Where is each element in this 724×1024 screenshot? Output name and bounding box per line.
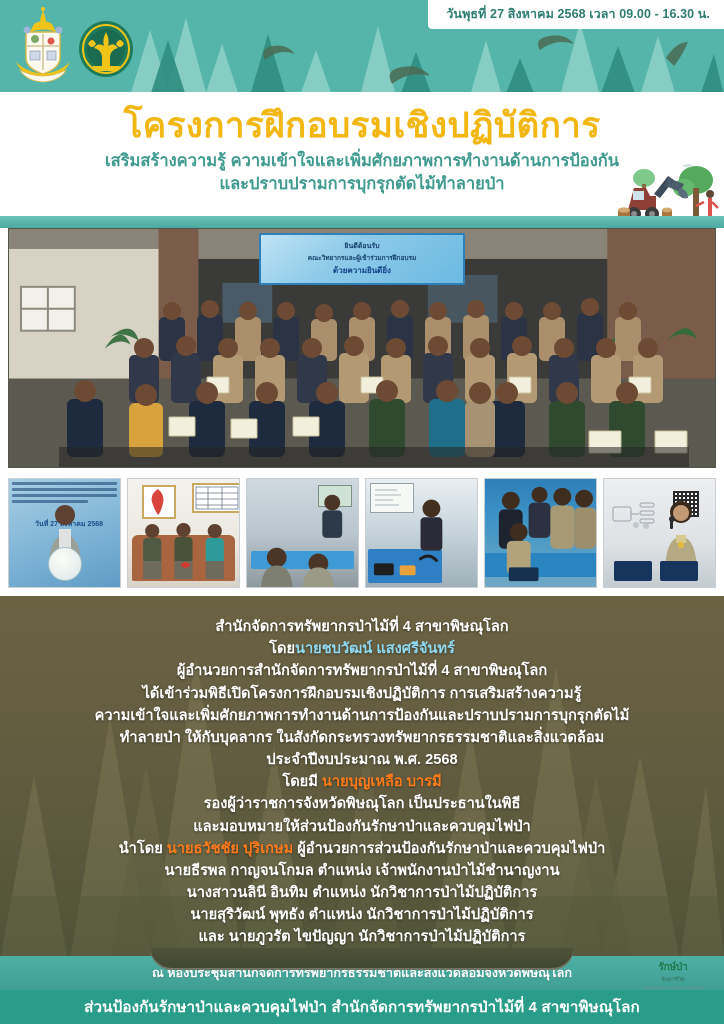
thumb-officials-seated-sofa[interactable]	[127, 478, 240, 588]
thumb-workshop-room-presentation[interactable]	[246, 478, 359, 588]
body-line-13: นายสุริวัฒน์ พุทธัง ตำแหน่ง นักวิชาการป่…	[26, 904, 698, 926]
body-line-9: และมอบหมายให้ส่วนป้องกันรักษาป่าและควบคุ…	[26, 816, 698, 838]
hero-banner-line3: ด้วยความยินดียิ่ง	[333, 264, 391, 277]
title-band: โครงการฝึกอบรมเชิงปฏิบัติการ เสริมสร้างค…	[0, 92, 724, 226]
body-line-2: ผู้อำนวยการสำนักจัดการทรัพยากรป่าไม้ที่ …	[26, 660, 698, 682]
body-line-3: ได้เข้าร่วมพิธีเปิดโครงการฝึกอบรมเชิงปฏิ…	[26, 683, 698, 705]
hero-crowd-figures	[9, 291, 716, 467]
hero-welcome-banner: ยินดีต้อนรับ คณะวิทยากรและผู้เข้าร่วมการ…	[259, 233, 465, 285]
thumbnail-strip: วันที่ 27 สิงหาคม 2568	[8, 478, 716, 588]
body-line-6: ประจำปีงบประมาณ พ.ศ. 2568	[26, 749, 698, 771]
ministry-seal-emblem-icon	[78, 20, 134, 78]
royal-garuda-emblem-icon	[14, 6, 72, 86]
thumb5-officer-figures	[485, 479, 596, 587]
body-line-10: นำโดย นายธวัชชัย ปุริเกษม ผู้อำนวยการส่ว…	[26, 838, 698, 860]
official-name-director: นายชบวัฒน์ แสงศรีจันทร์	[295, 641, 455, 657]
thumb2-three-officials	[128, 519, 239, 581]
event-date-text: วันพุธที่ 27 สิงหาคม 2568 เวลา 09.00 - 1…	[446, 7, 710, 21]
official-name-division-director: นายธวัชชัย ปุริเกษม	[167, 841, 293, 857]
body-line-1: โดยนายชบวัฒน์ แสงศรีจันทร์	[26, 638, 698, 660]
campaign-logo-line3: กรมป่าไม้ กระทรวงทรัพยากรธรรมชาติ	[643, 985, 703, 991]
poster-root: วันพุธที่ 27 สิงหาคม 2568 เวลา 09.00 - 1…	[0, 0, 724, 1024]
thumb6-laptop-left	[614, 561, 652, 581]
body-line-7: โดยมี นายบุญเหลือ บารมี	[26, 771, 698, 793]
page-title: โครงการฝึกอบรมเชิงปฏิบัติการ	[0, 106, 724, 146]
thumb1-podium-seal	[48, 547, 82, 581]
thumb-opening-ceremony-podium[interactable]: วันที่ 27 สิงหาคม 2568	[8, 478, 121, 588]
campaign-logo-line2: รักษาชีวิต	[661, 976, 684, 984]
body-line-11: นายธีรพล กาญจนโกมล ตำแหน่ง เจ้าพนักงานป่…	[26, 860, 698, 882]
footer-org-band: ส่วนป้องกันรักษาป่าและควบคุมไฟป่า สำนักจ…	[0, 990, 724, 1024]
body-line-4: ความเข้าใจและเพิ่มศักยภาพการทำงานด้านการ…	[26, 705, 698, 727]
thumb2-wall-map-frame	[142, 485, 176, 519]
footer-org-text: ส่วนป้องกันรักษาป่าและควบคุมไฟป่า สำนักจ…	[84, 995, 640, 1019]
thumb4-equipment-and-person	[366, 479, 477, 587]
body-panel: สำนักจัดการทรัพยากรป่าไม้ที่ 4 สาขาพิษณุ…	[0, 596, 724, 960]
campaign-logo: รักษ์ป่า รักษาชีวิต กรมป่าไม้ กระทรวงทรั…	[630, 958, 716, 992]
thumb3-attendees	[247, 479, 358, 587]
thumb-presenter-with-qr-slide[interactable]	[603, 478, 716, 588]
thumb-equipment-display-table[interactable]	[365, 478, 478, 588]
page-subtitle-line2: และปราบปรามการบุกรุกตัดไม้ทำลายป่า	[219, 175, 504, 193]
thumb6-laptop-right	[660, 561, 698, 581]
hero-banner-line2: คณะวิทยากรและผู้เข้าร่วมการฝึกอบรม	[308, 253, 417, 263]
body-line-8: รองผู้ว่าราชการจังหวัดพิษณุโลก เป็นประธา…	[26, 793, 698, 815]
emblem-group	[14, 6, 134, 86]
teal-divider-rule	[0, 216, 724, 228]
body-line-0: สำนักจัดการทรัพยากรป่าไม้ที่ 4 สาขาพิษณุ…	[26, 616, 698, 638]
body-announcement-text: สำนักจัดการทรัพยากรป่าไม้ที่ 4 สาขาพิษณุ…	[0, 596, 724, 960]
thumb-officers-at-laptop[interactable]	[484, 478, 597, 588]
body-line-5: ทำลายป่า ให้กับบุคลากร ในสังกัดกระทรวงทร…	[26, 727, 698, 749]
official-name-vice-governor: นายบุญเหลือ บารมี	[322, 774, 442, 790]
body-panel-bottom-curve	[150, 948, 574, 970]
page-subtitle-line1: เสริมสร้างความรู้ ความเข้าใจและเพิ่มศักย…	[105, 152, 619, 170]
hero-banner-line1: ยินดีต้อนรับ	[344, 241, 379, 252]
hero-group-photo: ยินดีต้อนรับ คณะวิทยากรและผู้เข้าร่วมการ…	[8, 228, 716, 468]
thumb2-wall-chart-frame	[192, 483, 240, 513]
body-line-12: นางสาวนลินี อินทิม ตำแหน่ง นักวิชาการป่า…	[26, 882, 698, 904]
header-band: วันพุธที่ 27 สิงหาคม 2568 เวลา 09.00 - 1…	[0, 0, 724, 96]
campaign-logo-line1: รักษ์ป่า	[659, 960, 688, 975]
event-date-chip: วันพุธที่ 27 สิงหาคม 2568 เวลา 09.00 - 1…	[428, 0, 724, 29]
body-line-14: และ นายภูวรัต ไขปัญญา นักวิชาการป่าไม้ปฏ…	[26, 926, 698, 948]
